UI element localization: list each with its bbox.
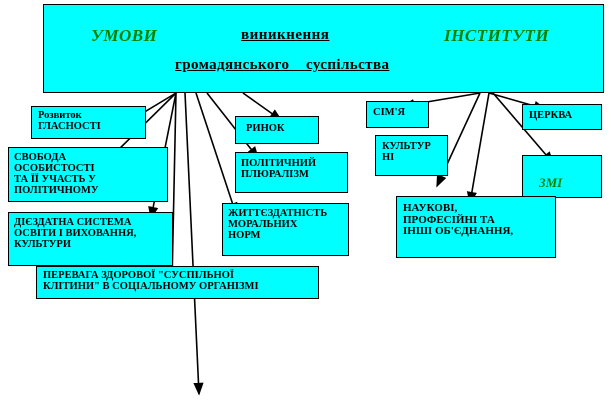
box-line: ІНШІ ОБ'ЄДНАННЯ, [403, 226, 552, 238]
box-line: ГЛАСНОСТІ [38, 121, 141, 132]
banner-inner: УМОВИ виникнення ІНСТИТУТИ громадянськог… [44, 5, 603, 92]
banner-left-title: УМОВИ [91, 27, 157, 45]
box-naukovi-profesiini[interactable]: НАУКОВІ, ПРОФЕСІЙНІ ТА ІНШІ ОБ'ЄДНАННЯ, [396, 196, 556, 258]
box-perevaha-zdorovoi-klityny[interactable]: ПЕРЕВАГА ЗДОРОВОЇ "СУСПІЛЬНОЇ КЛІТИНИ" В… [36, 266, 319, 299]
box-line: ТА ЇЇ УЧАСТЬ У [14, 174, 164, 185]
banner-right-title: ІНСТИТУТИ [444, 27, 549, 45]
box-line: МОРАЛЬНИХ [228, 219, 345, 230]
box-line: ОСВІТИ І ВИХОВАННЯ, [14, 228, 169, 239]
banner-center-title: виникнення [241, 28, 329, 44]
box-line: ЦЕРКВА [529, 110, 598, 121]
box-line: ЗМІ [539, 176, 598, 190]
box-politychnyi-pliuralizm[interactable]: ПОЛІТИЧНИЙ ПЛЮРАЛІЗМ [235, 152, 348, 193]
box-line: ПОЛІТИЧНИЙ [241, 158, 344, 169]
box-line: ПОЛІТИЧНОМУ [14, 185, 164, 196]
box-line: НІ [382, 152, 444, 163]
box-line: ПЕРЕВАГА ЗДОРОВОЇ "СУСПІЛЬНОЇ [43, 270, 314, 281]
box-line: СВОБОДА [14, 152, 164, 163]
box-rynok[interactable]: РИНОК [235, 116, 319, 144]
banner-subtitle: громадянського суспільства [175, 58, 389, 74]
box-line: НОРМ [228, 230, 345, 241]
box-zhyttiezdatnist-moralnykh-norm[interactable]: ЖИТТЄЗДАТНІСТЬ МОРАЛЬНИХ НОРМ [222, 203, 349, 256]
box-line: ОСОБИСТОСТІ [14, 163, 164, 174]
box-svoboda-osobystosti[interactable]: СВОБОДА ОСОБИСТОСТІ ТА ЇЇ УЧАСТЬ У ПОЛІТ… [8, 147, 168, 202]
box-line: Розвиток [38, 110, 141, 121]
box-line: ЖИТТЄЗДАТНІСТЬ [228, 208, 345, 219]
box-line: ДІЄЗДАТНА СИСТЕМА [14, 217, 169, 228]
box-rozvytok-hlasnosti[interactable]: Розвиток ГЛАСНОСТІ [31, 106, 146, 139]
banner-header: УМОВИ виникнення ІНСТИТУТИ громадянськог… [43, 4, 604, 93]
box-diezdatna-systema-osvity[interactable]: ДІЄЗДАТНА СИСТЕМА ОСВІТИ І ВИХОВАННЯ, КУ… [8, 212, 173, 266]
box-line: РИНОК [246, 123, 314, 134]
box-tserkva[interactable]: ЦЕРКВА [522, 104, 602, 130]
box-line: КУЛЬТУРИ [14, 239, 169, 250]
box-kulturni[interactable]: КУЛЬТУР НІ [375, 135, 448, 176]
arrow-to-zhyttiezdatnist [196, 93, 236, 214]
arrow-to-bottom [185, 93, 199, 394]
box-line: КЛІТИНИ" В СОЦІАЛЬНОМУ ОРГАНІЗМІ [43, 281, 314, 292]
diagram-canvas: УМОВИ виникнення ІНСТИТУТИ громадянськог… [0, 0, 611, 401]
box-line: СІМ'Я [373, 107, 425, 118]
box-line: КУЛЬТУР [382, 141, 444, 152]
box-line: ПЛЮРАЛІЗМ [241, 169, 344, 180]
box-line: НАУКОВІ, [403, 203, 552, 215]
box-simya[interactable]: СІМ'Я [366, 101, 429, 128]
box-zmi[interactable]: ЗМІ [522, 155, 602, 198]
